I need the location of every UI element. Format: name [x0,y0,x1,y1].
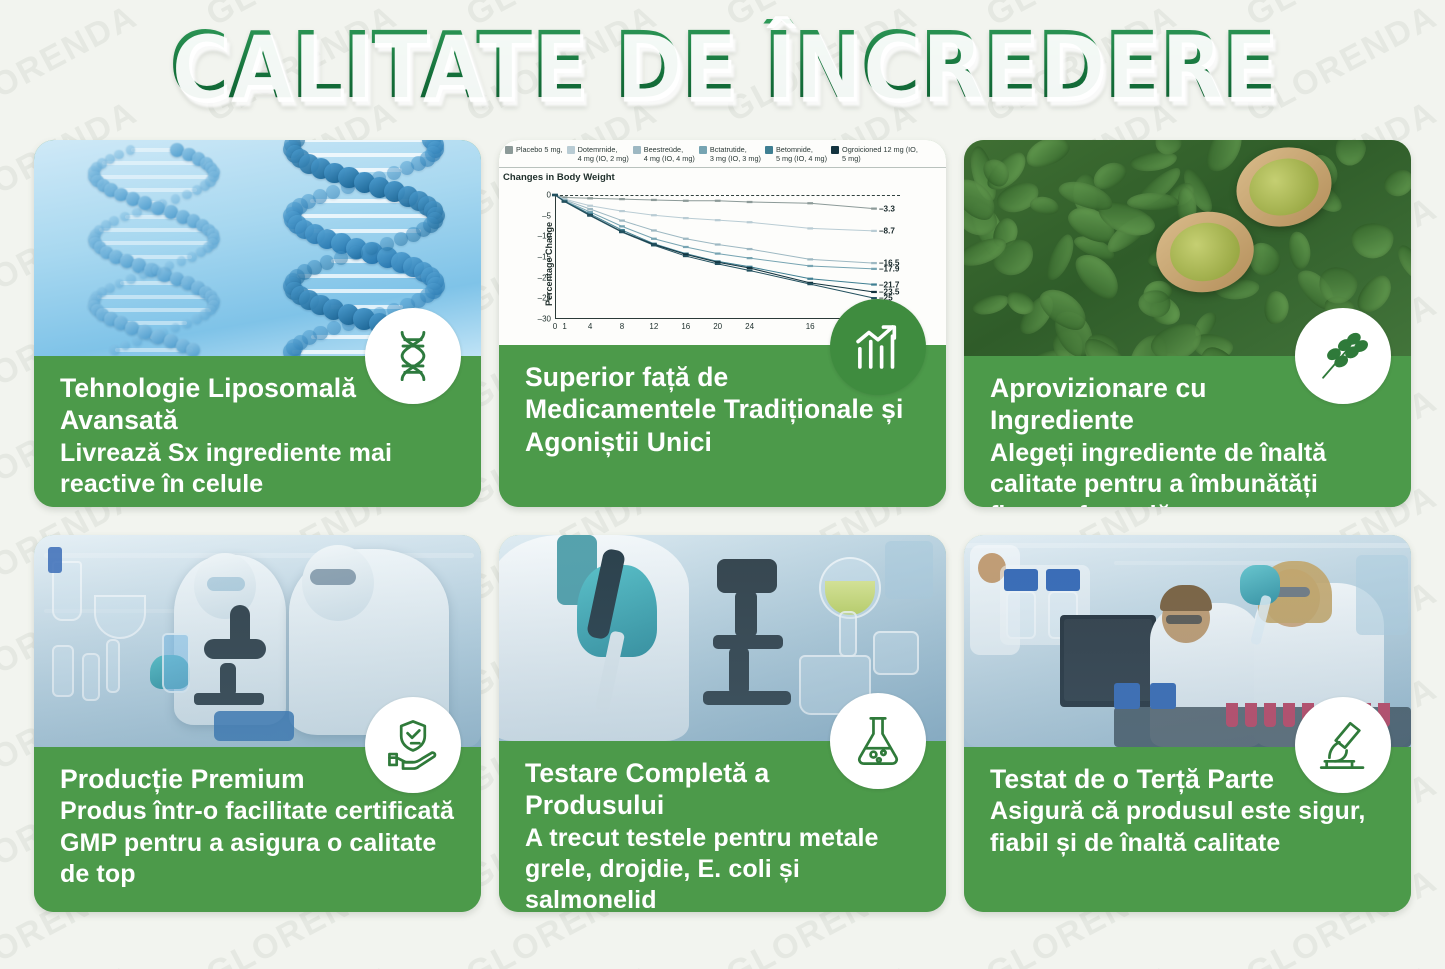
dna-rung [97,295,211,299]
chart-data-point [683,238,689,240]
dna-bead [151,330,165,344]
chart-data-point [715,253,721,255]
chart-data-point [715,200,721,202]
dna-bead [171,194,180,203]
dna-bead [326,185,340,199]
leaf-shape [1263,290,1290,326]
dna-rung [94,175,213,179]
chart-data-point [651,199,657,201]
chart-plot-inner: 0–5–10–15–20–25–300148121620241646–3.3–8… [555,195,874,319]
dna-bead [152,265,161,274]
dna-bead [406,227,421,242]
chart-data-point [552,194,558,196]
chart-y-tick: –15 [538,253,551,262]
chart-data-point [651,238,657,240]
dna-bead [349,246,363,260]
chart-data-point [747,248,753,250]
dna-bead [126,145,135,154]
feature-card-grid: Tehnologie Liposomală Avansată Livrează … [0,140,1445,912]
card-body: Producție Premium Produs într-o facilita… [34,747,481,912]
chart-data-point [619,210,625,212]
chart-x-tick: 12 [649,322,658,331]
chart-series-svg [555,195,874,319]
chart-data-point [683,217,689,219]
dna-icon [365,308,461,404]
card-title: Aprovizionare cu Ingrediente [990,372,1320,437]
chart-title: Changes in Body Weight [499,168,946,183]
card-description: Livrează Sx ingrediente mai reactive în … [60,438,461,501]
leaf-branch-icon [1295,308,1391,404]
dna-bead [192,185,202,195]
chart-x-tick: 1 [562,322,566,331]
dna-bead [177,256,186,265]
dna-bead [186,343,200,356]
dna-bead [110,345,120,355]
chart-x-tick: 8 [620,322,624,331]
feature-card-complete-product-testing[interactable]: Testare Completă a Produsului A trecut t… [499,535,946,912]
chart-data-point [715,244,721,246]
chart-data-point [747,257,753,259]
dna-bead [320,255,334,269]
chart-legend-item: Ogroicioned 12 mg (IO,5 mg) [831,145,918,163]
chart-data-point [807,202,813,204]
chart-data-point [747,221,753,223]
chart-legend-label: Placebo 5 mg, [516,145,563,154]
chart-x-tick: 16 [806,322,815,331]
chart-series-line [555,195,874,209]
chart-x-tick: 20 [713,322,722,331]
chart-legend-swatch [633,146,641,154]
chart-series-line [555,195,874,298]
chart-series-line [555,195,874,285]
dna-bead [192,314,202,324]
card-body: Tehnologie Liposomală Avansată Livrează … [34,356,481,507]
chart-data-point [807,228,813,230]
chart-x-tick: 16 [681,322,690,331]
card-description: Asigură că produsul este sigur, fiabil ș… [990,796,1391,859]
feature-card-premium-manufacturing[interactable]: Producție Premium Produs într-o facilita… [34,535,481,912]
dna-bead [380,237,394,251]
dna-bead [387,166,401,180]
green-powder [1165,217,1244,286]
feature-card-ingredient-sourcing[interactable]: Aprovizionare cu Ingrediente Alegeți ing… [964,140,1411,507]
microscope-icon [1295,697,1391,793]
page-title: CALITATE DE ÎNCREDERE [0,0,1445,140]
dna-bead [120,212,129,221]
chart-data-point [747,267,753,269]
dna-bead [165,261,174,270]
infographic-page: CALITATE DE ÎNCREDERE Tehnologie Liposom… [0,0,1445,969]
dna-bead [139,270,148,279]
chart-x-tick: 24 [745,322,754,331]
chart-data-point [871,284,877,286]
dna-rung [297,140,431,142]
chart-data-point [683,246,689,248]
chart-legend-swatch [765,146,773,154]
chart-data-point [683,200,689,202]
growth-chart-icon [830,299,926,395]
chart-legend-item: Placebo 5 mg, [505,145,563,163]
chart-data-point [807,258,813,260]
chart-legend: Placebo 5 mg,Dotemrnide,4 mg (IO, 2 mg)B… [499,140,946,168]
headline-text: CALITATE DE ÎNCREDERE [169,19,1276,115]
dna-bead [114,150,124,160]
chart-data-point [619,225,625,227]
dna-bead [182,319,192,329]
chart-data-point [747,270,753,272]
green-powder [1244,151,1325,222]
card-description: A trecut testele pentru metale grele, dr… [525,823,926,912]
chart-data-point [651,214,657,216]
dna-bead [171,323,180,332]
chart-data-point [587,215,593,217]
card-body: Aprovizionare cu Ingrediente Alegeți ing… [964,356,1411,507]
chart-data-point [683,255,689,257]
dna-bead [400,161,414,175]
dna-rung [96,241,213,245]
dna-bead [283,343,300,356]
dna-bead [132,208,141,217]
chart-legend-item: Beestreüde,4 mg (IO, 4 mg) [633,145,695,163]
dna-bead [187,252,197,262]
feature-card-third-party-tested[interactable]: Testat de o Terță Parte Asigură că produ… [964,535,1411,912]
dna-rung [292,214,436,218]
dna-bead [394,232,408,246]
chart-data-point [587,197,593,199]
dna-bead [182,190,192,200]
chart-data-point [715,263,721,265]
chart-series-line [555,195,874,269]
chart-data-point [619,220,625,222]
card-title: Testat de o Terță Parte [990,763,1320,795]
chart-data-point [807,265,813,267]
chart-data-point [807,283,813,285]
feature-card-liposomal-technology[interactable]: Tehnologie Liposomală Avansată Livrează … [34,140,481,507]
leaf-shape [1351,222,1393,258]
chart-legend-item: Bctatrutide,3 mg (IO, 3 mg) [699,145,761,163]
chart-legend-swatch [699,146,707,154]
card-description: Alegeți ingrediente de înaltă calitate p… [990,438,1391,507]
chart-data-point [619,198,625,200]
chart-legend-label: Ogroicioned 12 mg (IO,5 mg) [842,145,918,163]
card-description: Produs într-o facilitate certificată GMP… [60,796,461,890]
leaf-shape [1127,193,1179,210]
dna-bead [334,251,348,265]
feature-card-superior-vs-traditional[interactable]: Placebo 5 mg,Dotemrnide,4 mg (IO, 2 mg)B… [499,140,946,507]
dna-bead [196,247,206,257]
chart-data-point [651,244,657,246]
chart-data-point [562,201,568,203]
dna-bead [327,321,341,335]
chart-data-point [871,291,877,293]
chart-data-point [871,208,877,210]
chart-legend-item: Dotemrnide,4 mg (IO, 2 mg) [567,145,629,163]
chart-y-tick: –30 [538,315,551,324]
chart-legend-label: Bctatrutide,3 mg (IO, 3 mg) [710,145,761,163]
chart-end-label: –8.7 [879,227,895,236]
dna-bead [126,274,135,283]
chart-end-label: –17.9 [879,265,900,274]
chart-end-label: –3.3 [879,204,895,213]
leaf-shape [970,292,1010,318]
chart-y-tick: –25 [538,294,551,303]
card-body: Superior față de Medicamentele Tradițion… [499,345,946,507]
card-title: Tehnologie Liposomală Avansată [60,372,390,437]
dna-bead [109,216,119,226]
chart-x-tick: 0 [553,322,557,331]
chart-data-point [747,201,753,203]
chart-legend-label: Beestreüde,4 mg (IO, 4 mg) [644,145,695,163]
chart-legend-swatch [567,146,575,154]
chart-legend-swatch [505,146,513,154]
card-body: Testat de o Terță Parte Asigură că produ… [964,747,1411,912]
leaf-shape [1028,195,1060,217]
chart-legend-item: Betomnide,5 mg (IO, 4 mg) [765,145,827,163]
chart-legend-label: Betomnide,5 mg (IO, 4 mg) [776,145,827,163]
chart-data-point [651,230,657,232]
chart-data-point [871,268,877,270]
chart-data-point [807,278,813,280]
chart-data-point [619,231,625,233]
flask-icon [830,693,926,789]
chart-y-tick: 0 [547,191,551,200]
chart-y-tick: –20 [538,273,551,282]
chart-legend-swatch [831,146,839,154]
dna-rung [102,161,206,165]
leaf-shape [1022,140,1073,173]
card-body: Testare Completă a Produsului A trecut t… [499,741,946,912]
chart-data-point [871,262,877,264]
dna-rung [97,308,210,312]
chart-legend-label: Dotemrnide,4 mg (IO, 2 mg) [578,145,629,163]
leaf-shape [1393,241,1411,285]
dna-bead [115,279,125,289]
chart-data-point [715,219,721,221]
card-title: Producție Premium [60,763,390,795]
chart-data-point [587,205,593,207]
chart-data-point [871,230,877,232]
chart-y-tick: –5 [542,211,551,220]
chart-y-tick: –10 [538,232,551,241]
dna-rung [99,228,209,232]
card-title: Testare Completă a Produsului [525,757,855,822]
chart-x-tick: 4 [588,322,592,331]
chart-data-point [587,208,593,210]
hand-shield-check-icon [365,697,461,793]
